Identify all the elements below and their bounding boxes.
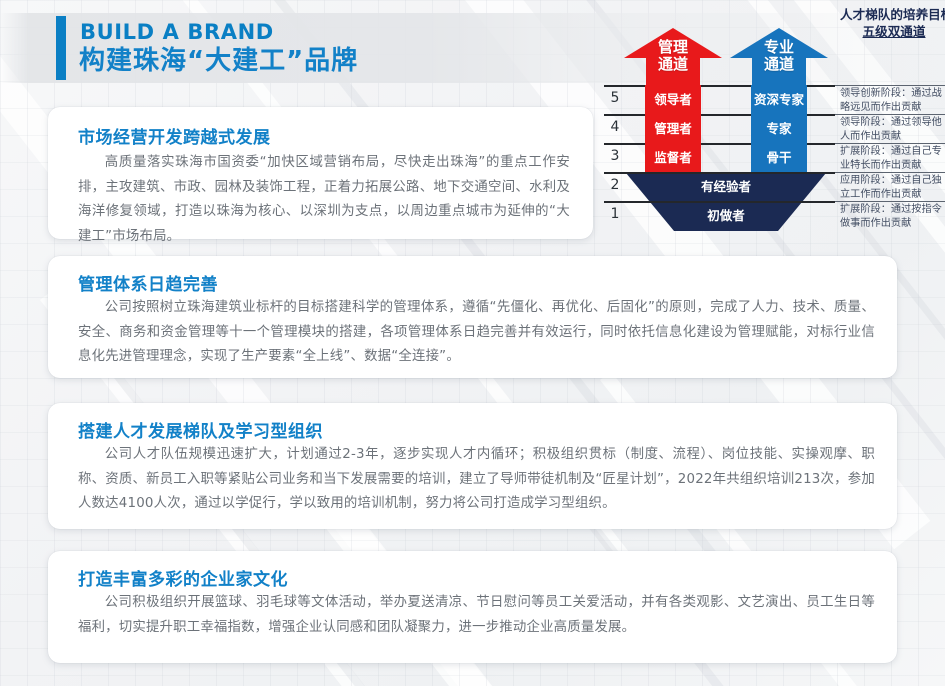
level-description: 扩展阶段：通过自己专业特长而作出贡献: [840, 145, 945, 172]
level-number: 3: [606, 148, 624, 164]
management-role-cell: 管理者: [645, 114, 701, 143]
talent-ladder-diagram: 人才梯队的培养目标: 五级双通道 管理 通道 专业 通道 5 领导者: [604, 28, 945, 232]
diagram-title-line2: 五级双通道: [840, 23, 945, 40]
management-channel-arrow: 管理 通道: [624, 28, 722, 61]
card-body: 高质量落实珠海市国资委“加快区域营销布局，尽快走出珠海”的重点工作安排，主攻建筑…: [78, 151, 570, 249]
level-row-5: 5 领导者 资深专家 领导创新阶段：通过战略远见而作出贡献: [604, 85, 945, 114]
label-line1: 管理: [624, 39, 722, 56]
card-body: 公司人才队伍规模迅速扩大，计划通过2-3年，逐步实现人才内循环；积极组织贯标（制…: [78, 443, 875, 517]
level-number: 1: [606, 206, 624, 222]
slide-page: BUILD A BRAND 构建珠海“大建工”品牌 市场经营开发跨越式发展 高质…: [0, 0, 945, 686]
row-rule-right: [835, 85, 945, 86]
row-rule-right: [835, 172, 945, 173]
content-card-talent-development: 搭建人才发展梯队及学习型组织 公司人才队伍规模迅速扩大，计划通过2-3年，逐步实…: [48, 403, 897, 529]
experienced-role-cell: 有经验者: [626, 172, 826, 201]
professional-role-cell: 资深专家: [751, 85, 807, 114]
card-title: 搭建人才发展梯队及学习型组织: [78, 417, 323, 442]
card-title: 管理体系日趋完善: [78, 270, 218, 295]
row-rule-right: [835, 143, 945, 144]
card-title: 打造丰富多彩的企业家文化: [78, 565, 288, 590]
level-description: 领导阶段：通过领导他人而作出贡献: [840, 116, 945, 143]
level-number: 4: [606, 119, 624, 135]
card-body: 公司按照树立珠海建筑业标杆的目标搭建科学的管理体系，遵循“先僵化、再优化、后固化…: [78, 296, 875, 370]
management-role-cell: 领导者: [645, 85, 701, 114]
professional-channel-arrow: 专业 通道: [730, 28, 828, 61]
row-rule-right: [835, 114, 945, 115]
label-line1: 专业: [730, 39, 828, 56]
label-line2: 通道: [624, 56, 722, 73]
level-row-3: 3 监督者 骨干 扩展阶段：通过自己专业特长而作出贡献: [604, 143, 945, 172]
level-description: 领导创新阶段：通过战略远见而作出贡献: [840, 87, 945, 114]
level-row-1: 1 初做者 扩展阶段：通过按指令做事而作出贡献: [604, 201, 945, 230]
label-line2: 通道: [730, 56, 828, 73]
content-card-culture: 打造丰富多彩的企业家文化 公司积极组织开展篮球、羽毛球等文体活动，举办夏送清凉、…: [48, 551, 897, 663]
header-accent-bar: [56, 16, 66, 80]
professional-role-cell: 骨干: [751, 143, 807, 172]
card-title: 市场经营开发跨越式发展: [78, 123, 271, 148]
title-english: BUILD A BRAND: [80, 19, 274, 45]
beginner-role-cell: 初做者: [626, 201, 826, 230]
level-row-2: 2 有经验者 应用阶段：通过自己独立工作而作出贡献: [604, 172, 945, 201]
row-rule-right: [835, 201, 945, 202]
level-number: 2: [606, 177, 624, 193]
professional-role-cell: 专家: [751, 114, 807, 143]
level-number: 5: [606, 90, 624, 106]
content-card-market: 市场经营开发跨越式发展 高质量落实珠海市国资委“加快区域营销布局，尽快走出珠海”…: [48, 107, 593, 239]
card-body: 公司积极组织开展篮球、羽毛球等文体活动，举办夏送清凉、节日慰问等员工关爱活动，并…: [78, 591, 875, 640]
level-description: 扩展阶段：通过按指令做事而作出贡献: [840, 203, 945, 230]
level-row-4: 4 管理者 专家 领导阶段：通过领导他人而作出贡献: [604, 114, 945, 143]
diagram-title-line1: 人才梯队的培养目标:: [840, 6, 945, 23]
management-role-cell: 监督者: [645, 143, 701, 172]
diagram-title: 人才梯队的培养目标: 五级双通道: [840, 6, 945, 40]
title-chinese: 构建珠海“大建工”品牌: [79, 44, 358, 78]
level-description: 应用阶段：通过自己独立工作而作出贡献: [840, 174, 945, 201]
professional-channel-label: 专业 通道: [730, 39, 828, 73]
management-channel-label: 管理 通道: [624, 39, 722, 73]
content-card-management-system: 管理体系日趋完善 公司按照树立珠海建筑业标杆的目标搭建科学的管理体系，遵循“先僵…: [48, 256, 897, 378]
